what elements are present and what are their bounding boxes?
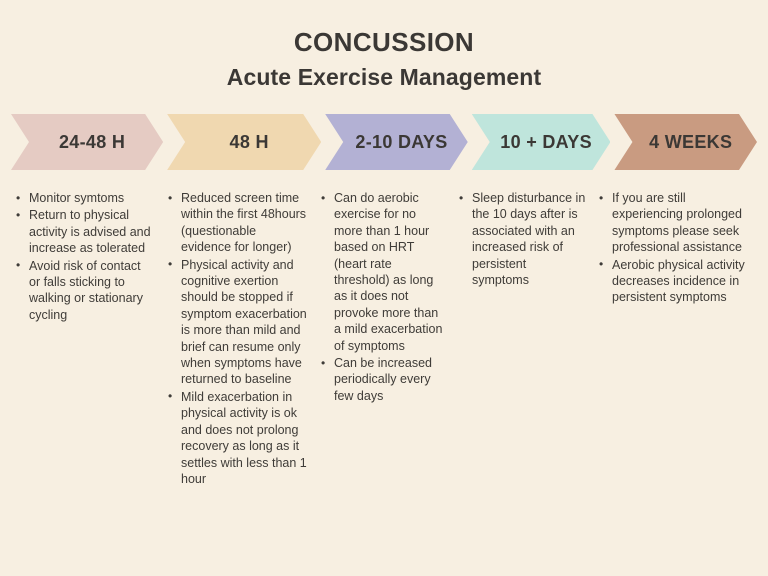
- stage-label: 10 + DAYS: [500, 132, 592, 153]
- bullet-list: Reduced screen time within the first 48h…: [163, 190, 308, 487]
- stage-label: 2-10 DAYS: [355, 132, 447, 153]
- list-item: Can be increased periodically every few …: [332, 355, 446, 404]
- list-item: Can do aerobic exercise for no more than…: [332, 190, 446, 354]
- stage-column-4-weeks: If you are still experiencing prolonged …: [594, 190, 754, 307]
- timeline-chevron-band: 24-48 H 48 H 2-10 DAYS 10 + DAYS 4 WEEKS: [11, 114, 757, 170]
- page-title: CONCUSSION: [0, 26, 768, 59]
- stage-column-2-10-days: Can do aerobic exercise for no more than…: [316, 190, 454, 405]
- page-subtitle: Acute Exercise Management: [0, 63, 768, 93]
- stage-column-10-plus-days: Sleep disturbance in the 10 days after i…: [454, 190, 594, 289]
- list-item: Avoid risk of contact or falls sticking …: [27, 258, 155, 324]
- stage-chevron-24-48-h: 24-48 H: [11, 114, 163, 170]
- stage-chevron-2-10-days: 2-10 DAYS: [325, 114, 468, 170]
- stage-chevron-48-h: 48 H: [167, 114, 321, 170]
- stage-content-columns: Monitor symtomsReturn to physical activi…: [11, 190, 757, 488]
- stage-label: 4 WEEKS: [649, 132, 732, 153]
- list-item: Mild exacerbation in physical activity i…: [179, 389, 308, 487]
- title-block: CONCUSSION Acute Exercise Management: [0, 0, 768, 92]
- list-item: Aerobic physical activity decreases inci…: [610, 257, 746, 306]
- stage-label: 48 H: [230, 132, 269, 153]
- bullet-list: Sleep disturbance in the 10 days after i…: [454, 190, 586, 288]
- list-item: Physical activity and cognitive exertion…: [179, 257, 308, 388]
- list-item: If you are still experiencing prolonged …: [610, 190, 746, 256]
- list-item: Reduced screen time within the first 48h…: [179, 190, 308, 256]
- bullet-list: If you are still experiencing prolonged …: [594, 190, 746, 306]
- stage-chevron-4-weeks: 4 WEEKS: [614, 114, 757, 170]
- stage-label: 24-48 H: [59, 132, 125, 153]
- concussion-infographic: CONCUSSION Acute Exercise Management 24-…: [0, 0, 768, 576]
- list-item: Monitor symtoms: [27, 190, 155, 206]
- list-item: Return to physical activity is advised a…: [27, 207, 155, 256]
- stage-chevron-10-plus-days: 10 + DAYS: [472, 114, 611, 170]
- bullet-list: Monitor symtomsReturn to physical activi…: [11, 190, 155, 323]
- list-item: Sleep disturbance in the 10 days after i…: [470, 190, 586, 288]
- bullet-list: Can do aerobic exercise for no more than…: [316, 190, 446, 404]
- stage-column-24-48-h: Monitor symtomsReturn to physical activi…: [11, 190, 163, 324]
- stage-column-48-h: Reduced screen time within the first 48h…: [163, 190, 316, 488]
